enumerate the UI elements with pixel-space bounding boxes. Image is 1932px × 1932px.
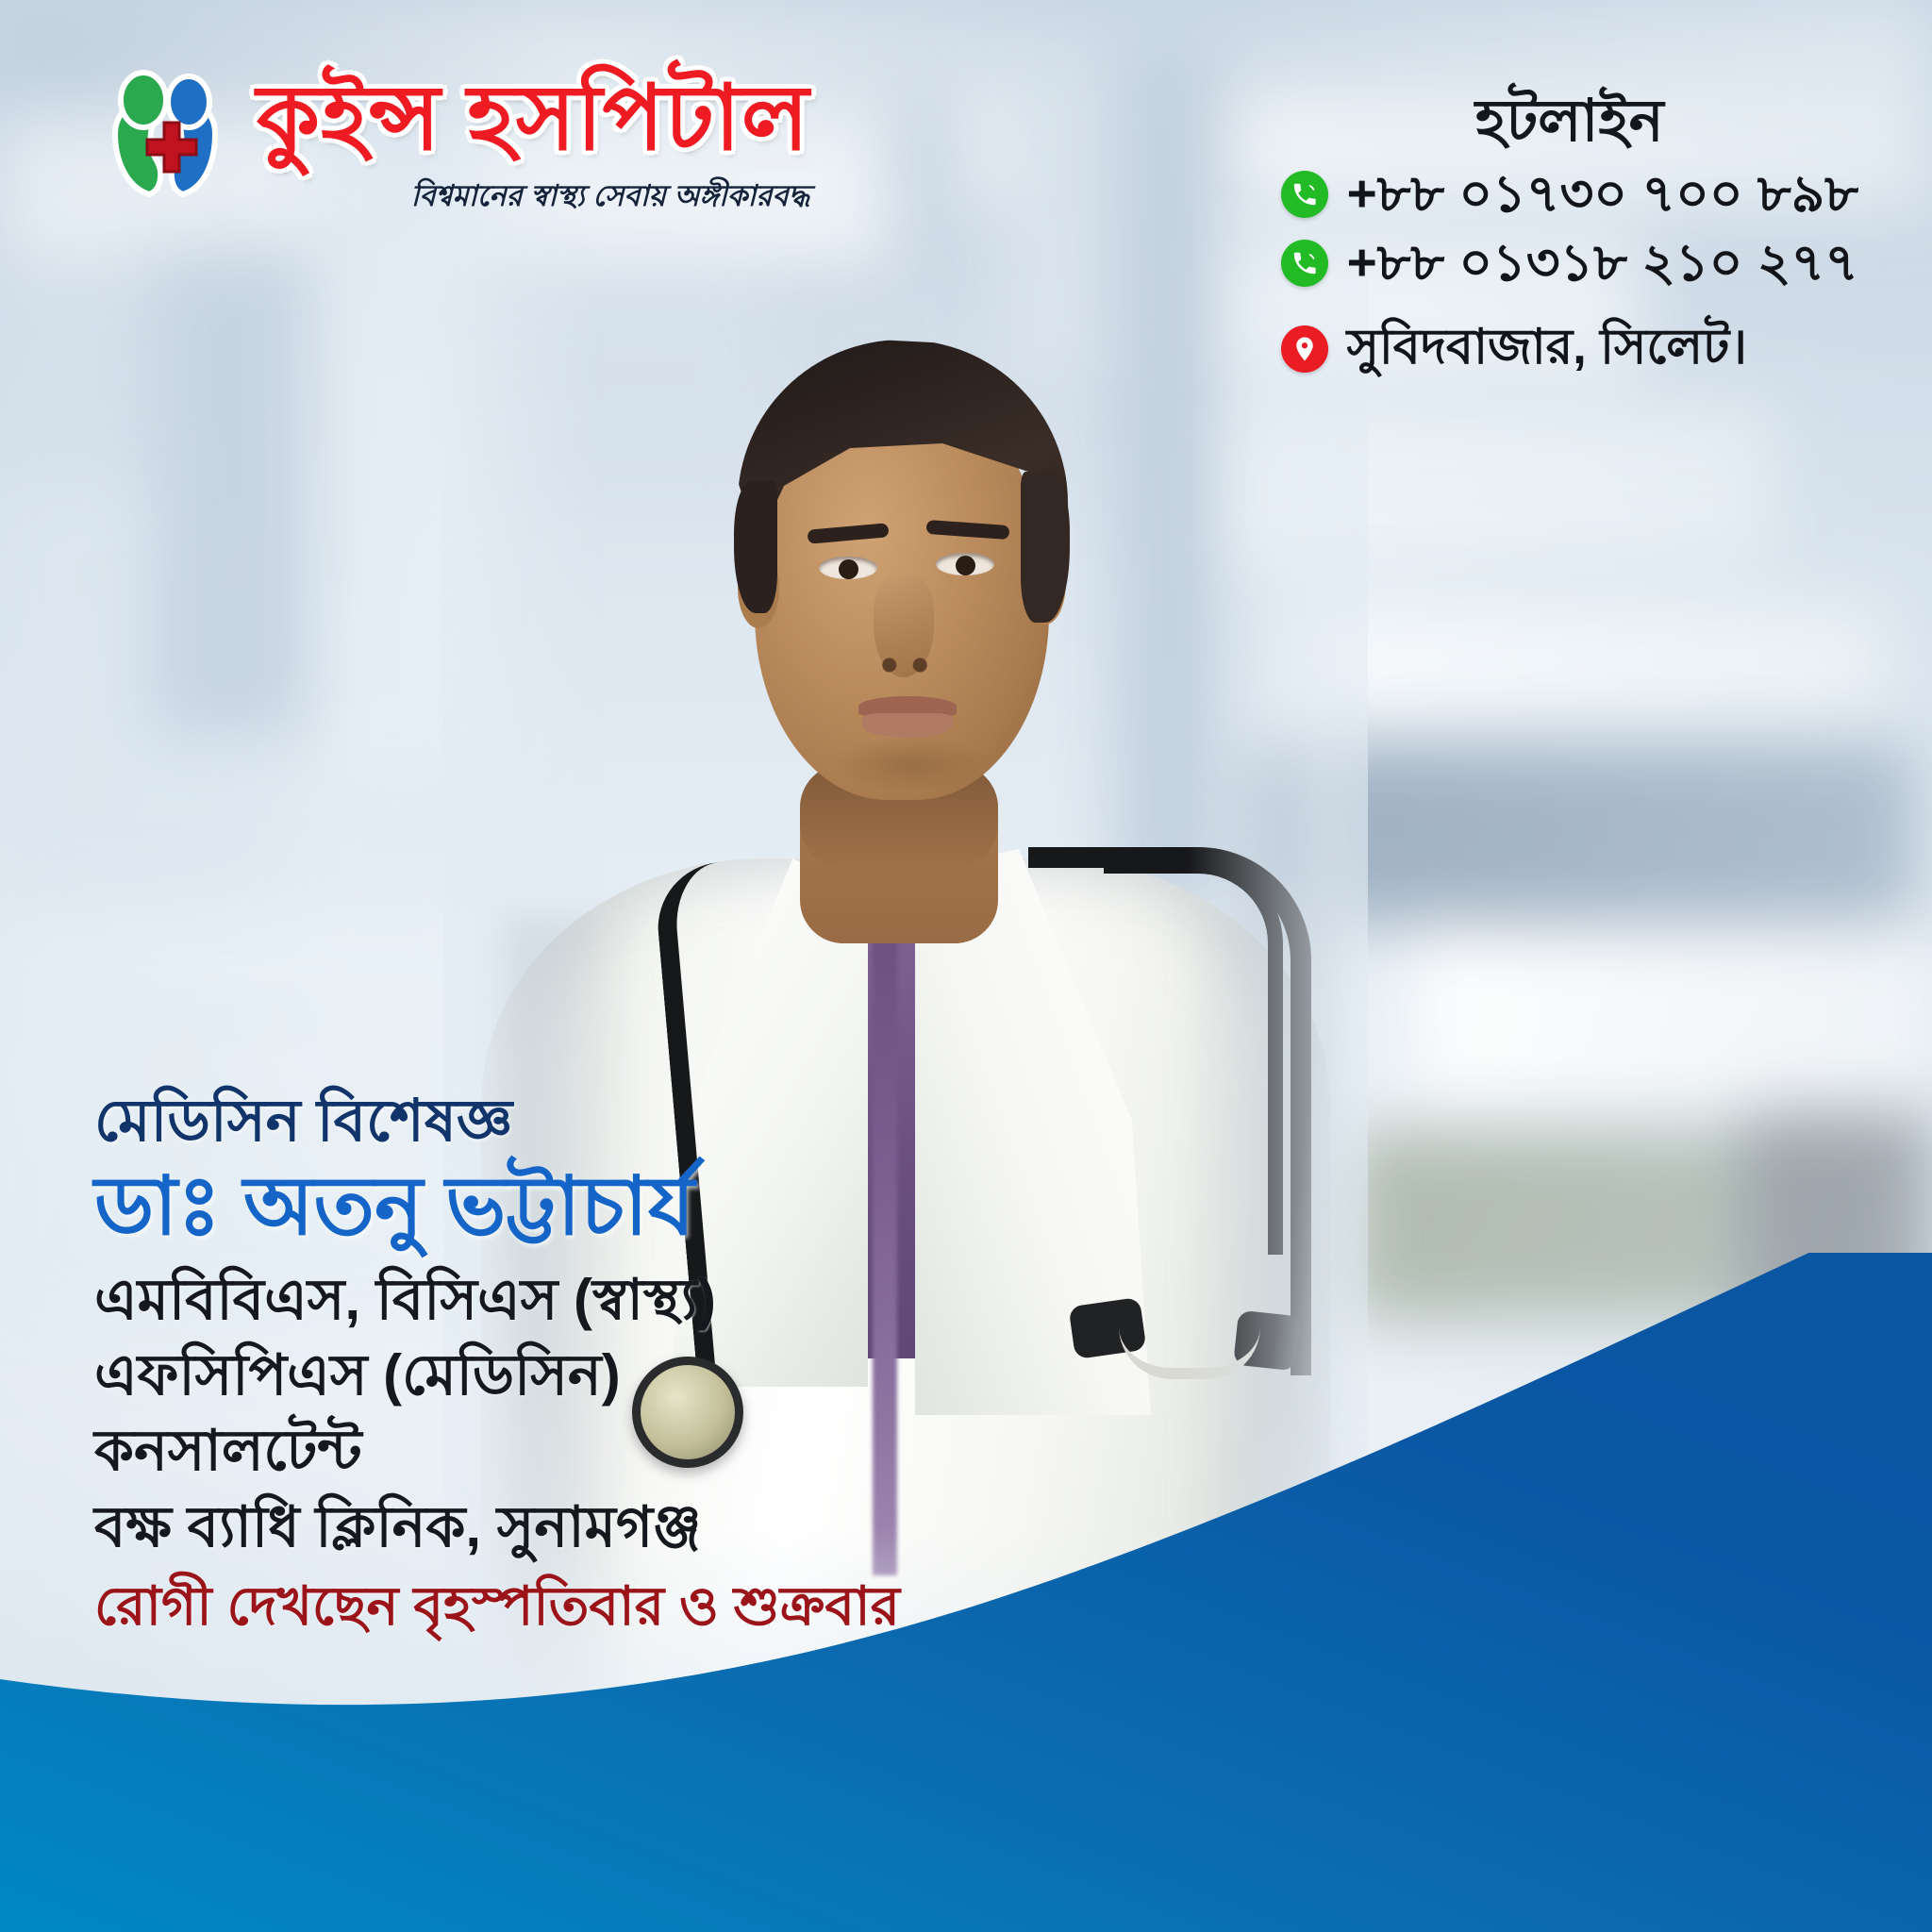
hospital-logo: কুইন্স হসপিটাল বিশ্বমানের স্বাস্থ্য সেবা… [94,68,809,223]
phone-icon [1281,240,1328,287]
hotline-row-2[interactable]: +৮৮ ০১৩১৮ ২১০ ২৭৭ [1281,233,1858,292]
doctor-announcement-poster: কুইন্স হসপিটাল বিশ্বমানের স্বাস্থ্য সেবা… [0,0,1932,1932]
heart-people-cross-icon [94,68,236,209]
doctor-qualification-3: কনসালটেন্ট [94,1413,1179,1489]
doctor-qualification-2: এফসিপিএস (মেডিসিন) [94,1338,1179,1413]
doctor-name: ডাঃ অতনু ভট্টাচার্য [94,1161,1179,1252]
hospital-address: সুবিদবাজার, সিলেট। [1347,308,1747,391]
hospital-tagline: বিশ্বমানের স্বাস্থ্য সেবায় অঙ্গীকারবদ্ধ [257,174,809,223]
doctor-info-block: মেডিসিন বিশেষজ্ঞ ডাঃ অতনু ভট্টাচার্য এমব… [94,1090,1179,1639]
hotline-title: হটলাইন [1281,92,1858,151]
hotline-number: +৮৮ ০১৭৩০ ৭০০ ৮৯৮ [1347,164,1858,224]
hotline-block: হটলাইন +৮৮ ০১৭৩০ ৭০০ ৮৯৮ +৮৮ ০১৩১৮ ২১০ ২… [1281,92,1858,391]
doctor-qualification-4: বক্ষ ব্যাধি ক্লিনিক, সুনামগঞ্জ [94,1490,1179,1565]
hotline-row-1[interactable]: +৮৮ ০১৭৩০ ৭০০ ৮৯৮ [1281,164,1858,224]
phone-icon [1281,171,1328,218]
hotline-number: +৮৮ ০১৩১৮ ২১০ ২৭৭ [1347,233,1858,292]
doctor-specialty: মেডিসিন বিশেষজ্ঞ [94,1090,1179,1154]
location-pin-icon [1281,325,1328,373]
doctor-schedule: রোগী দেখছেন বৃহস্পতিবার ও শুক্রবার [94,1574,1179,1639]
doctor-qualification-1: এমবিবিএস, বিসিএস (স্বাস্থ্য) [94,1262,1179,1338]
hospital-name: কুইন্স হসপিটাল [257,74,809,164]
address-row: সুবিদবাজার, সিলেট। [1281,308,1858,391]
